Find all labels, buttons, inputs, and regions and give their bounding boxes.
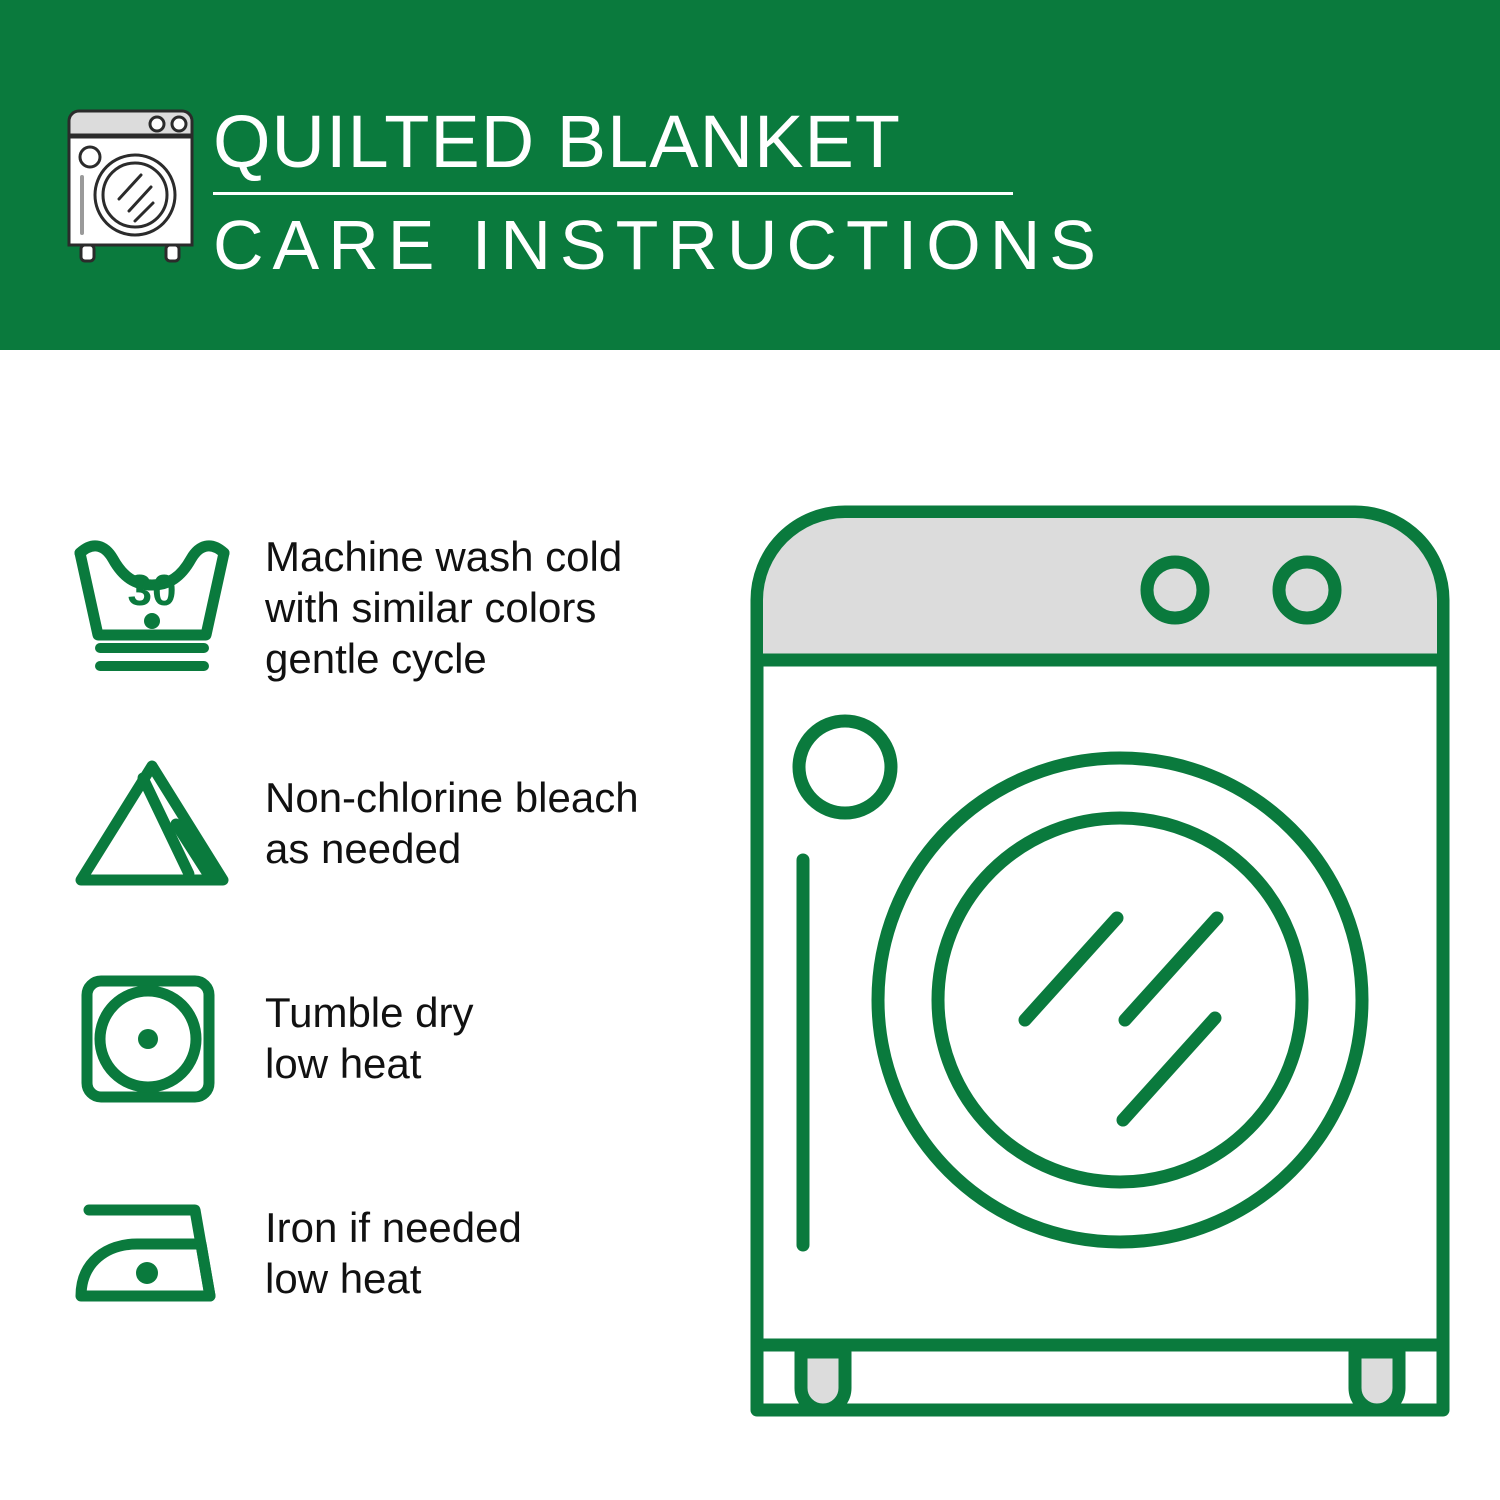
header-band: QUILTED BLANKET CARE INSTRUCTIONS: [0, 0, 1500, 350]
iron-icon: [60, 1178, 245, 1328]
header-divider: [213, 192, 1013, 195]
machine-leg-right: [1355, 1352, 1399, 1410]
care-label-bleach: Non-chlorine bleach as needed: [245, 772, 639, 874]
care-row-iron: Iron if needed low heat: [60, 1145, 720, 1360]
care-row-wash: 30 Machine wash cold with similar colors…: [60, 500, 720, 715]
page-subtitle: CARE INSTRUCTIONS: [213, 205, 1023, 285]
care-row-tumble-dry: Tumble dry low heat: [60, 930, 720, 1145]
machine-leg-left: [801, 1352, 845, 1410]
care-instructions-list: 30 Machine wash cold with similar colors…: [60, 500, 720, 1360]
door-inner-ring: [938, 818, 1302, 1182]
page-title: QUILTED BLANKET: [213, 100, 1023, 184]
care-row-bleach: Non-chlorine bleach as needed: [60, 715, 720, 930]
header-text-block: QUILTED BLANKET CARE INSTRUCTIONS: [213, 100, 1023, 285]
tumble-dry-icon: [60, 963, 245, 1113]
care-label-wash: Machine wash cold with similar colors ge…: [245, 531, 622, 684]
machine-knob-right: [1279, 562, 1335, 618]
care-label-iron: Iron if needed low heat: [245, 1202, 522, 1304]
wash-temperature-value: 30: [128, 566, 177, 615]
detergent-port: [799, 721, 891, 813]
bleach-triangle-icon: [60, 748, 245, 898]
washing-machine-icon: [63, 105, 198, 265]
wash-tub-icon: 30: [60, 533, 245, 683]
care-label-tumble-dry: Tumble dry low heat: [245, 987, 474, 1089]
machine-knob-left: [1147, 562, 1203, 618]
washing-machine-illustration: [745, 500, 1455, 1430]
